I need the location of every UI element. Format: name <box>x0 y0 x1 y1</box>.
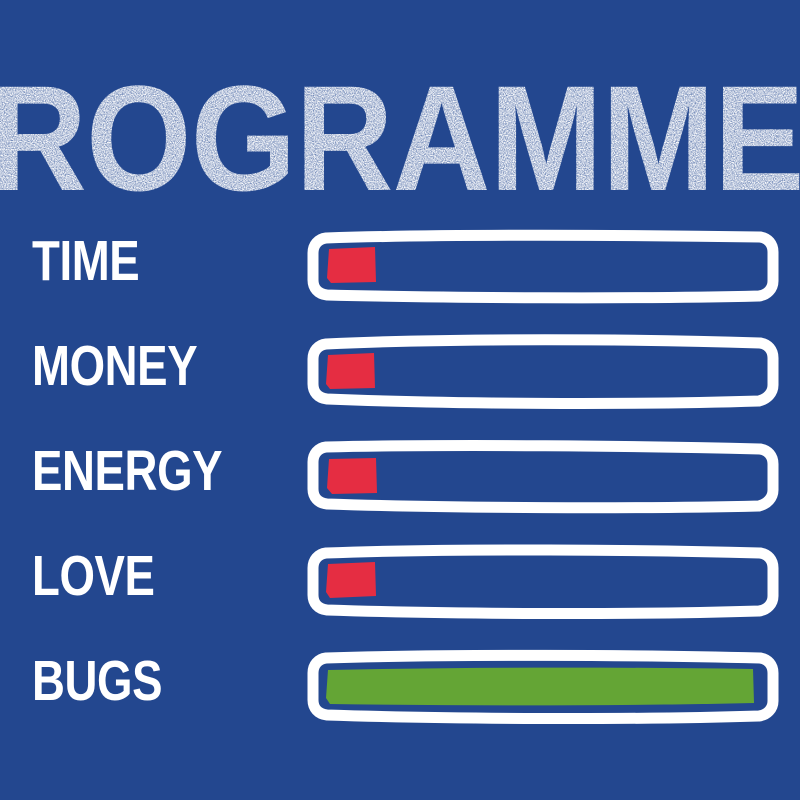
meter-bar-time <box>306 226 780 304</box>
meter-label-bugs: BUGS <box>32 646 162 717</box>
meter-label-energy: ENERGY <box>32 436 222 507</box>
title-text: PROGRAMMER <box>0 56 800 206</box>
meter-row-money: MONEY <box>0 331 800 436</box>
meter-fill-money <box>326 353 375 389</box>
programmer-meme-poster: PROGRAMMER TIME MONEY <box>0 0 800 800</box>
meter-bar-love-outline <box>313 550 773 614</box>
meter-bar-money-outline <box>313 340 773 404</box>
meter-label-love: LOVE <box>32 541 155 612</box>
meter-row-bugs: BUGS <box>0 646 800 751</box>
meter-fill-time <box>327 247 376 283</box>
meter-row-love: LOVE <box>0 541 800 646</box>
meter-bar-time-artwork <box>306 226 780 304</box>
meter-bar-time-outline <box>313 235 773 298</box>
meter-row-energy: ENERGY <box>0 436 800 541</box>
meter-fill-energy <box>327 458 377 494</box>
meter-bar-money <box>306 331 780 409</box>
meter-fill-love <box>326 562 376 598</box>
meter-label-time: TIME <box>32 226 139 297</box>
meter-bar-money-artwork <box>306 331 780 409</box>
meter-bar-bugs-artwork <box>306 646 780 724</box>
poster-title: PROGRAMMER <box>0 46 800 206</box>
meter-bar-energy <box>306 436 780 514</box>
meter-bar-energy-artwork <box>306 436 780 514</box>
meter-row-time: TIME <box>0 226 800 331</box>
meter-bar-love <box>306 541 780 619</box>
meter-list: TIME MONEY ENERGY <box>0 226 800 751</box>
title-artwork: PROGRAMMER <box>0 46 800 206</box>
meter-label-money: MONEY <box>32 331 197 402</box>
meter-bar-bugs <box>306 646 780 724</box>
meter-bar-love-artwork <box>306 541 780 619</box>
meter-bar-energy-outline <box>313 446 773 508</box>
meter-fill-bugs <box>326 668 754 706</box>
